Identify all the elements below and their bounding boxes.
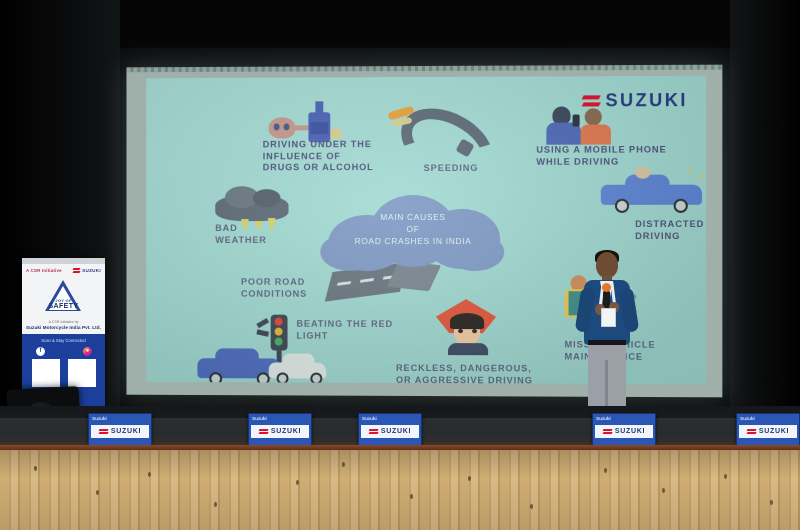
- nameplate-logo: SUZUKI: [361, 425, 419, 438]
- nameplate-label: SUZUKI: [615, 428, 645, 435]
- cause-label-bad-weather: BAD WEATHER: [215, 223, 294, 246]
- presenter: [576, 252, 638, 414]
- cause-label-drink-driving: DRIVING UNDER THE INFLUENCE OF DRUGS OR …: [263, 139, 392, 174]
- nameplate-tag: Suzuki: [92, 416, 107, 421]
- nameplate-logo: SUZUKI: [595, 425, 653, 438]
- standee-top-rail: [22, 258, 105, 264]
- standee-initiative-line: A CSR Initiative by: [22, 320, 105, 324]
- presenter-trousers: [588, 342, 626, 414]
- cause-label-red-light: BEATING THE RED LIGHT: [296, 319, 406, 342]
- standee-brand-wordmark: SUZUKI: [82, 268, 101, 273]
- suzuki-s-mark-icon: [73, 268, 80, 274]
- nameplate-logo: SUZUKI: [739, 425, 797, 438]
- table-nameplate: Suzuki SUZUKI: [248, 413, 312, 447]
- nameplate-label: SUZUKI: [271, 428, 301, 435]
- standee-suzuki-logo: SUZUKI: [73, 268, 101, 274]
- cause-label-speeding: SPEEDING: [406, 163, 496, 175]
- id-badge: [601, 308, 616, 327]
- table-nameplate: Suzuki SUZUKI: [592, 413, 656, 447]
- driver-with-phone-icon: [544, 98, 635, 144]
- instagram-qr-code: [68, 359, 96, 387]
- cloud-line-2: OF: [320, 223, 506, 235]
- nameplate-logo: SUZUKI: [91, 425, 149, 438]
- facebook-qr-code: [32, 359, 60, 387]
- standee-social-icons: f ●: [36, 347, 92, 356]
- standee-csr-tagline: A CSR Initiative: [26, 268, 62, 273]
- stage-front-panelling: [0, 450, 800, 530]
- suzuki-s-mark-icon: [259, 428, 268, 436]
- nameplate-logo: SUZUKI: [251, 425, 309, 438]
- crashed-cars-icon: [197, 348, 328, 384]
- standee-scan-line: Scan & Stay Connected: [22, 338, 105, 343]
- nameplate-label: SUZUKI: [759, 428, 789, 435]
- speed-swoosh-icon: [388, 105, 484, 165]
- nameplate-tag: Suzuki: [740, 416, 755, 421]
- suzuki-s-mark-icon: [99, 428, 108, 436]
- table-nameplate: Suzuki SUZUKI: [358, 413, 422, 447]
- storm-cloud-lightning-icon: [215, 185, 300, 225]
- angry-driver-icon: [428, 299, 506, 353]
- table-nameplate: Suzuki SUZUKI: [88, 413, 152, 447]
- auditorium-scene: SUZUKI DRIVING UNDER THE INFLUENCE OF DR…: [0, 0, 800, 530]
- facebook-icon: f: [36, 347, 45, 356]
- cloud-text: MAIN CAUSES OF ROAD CRASHES IN INDIA: [320, 211, 506, 247]
- cause-label-poor-road: POOR ROAD CONDITIONS: [241, 277, 350, 300]
- suzuki-s-mark-icon: [747, 428, 756, 436]
- table-nameplate: Suzuki SUZUKI: [736, 413, 800, 447]
- instagram-icon: ●: [83, 347, 92, 356]
- standee-qr-codes: [32, 359, 96, 387]
- central-cloud: MAIN CAUSES OF ROAD CRASHES IN INDIA: [320, 189, 506, 269]
- standee-safety-text: SAFETY: [22, 303, 105, 310]
- nameplate-label: SUZUKI: [381, 428, 411, 435]
- cause-label-mobile-phone: USING A MOBILE PHONE WHILE DRIVING: [536, 144, 690, 167]
- cause-label-distracted-driving: DISTRACTED DRIVING: [635, 219, 706, 242]
- nameplate-label: SUZUKI: [111, 428, 141, 435]
- suzuki-s-mark-icon: [603, 428, 612, 436]
- nameplate-tag: Suzuki: [362, 416, 377, 421]
- standee-header: A CSR Initiative SUZUKI: [26, 266, 101, 275]
- standee-company-name: Suzuki Motorcycle India Pvt. Ltd.: [22, 325, 105, 330]
- suzuki-s-mark-icon: [369, 428, 378, 436]
- nameplate-tag: Suzuki: [252, 416, 267, 421]
- ceiling-dark-band: [0, 0, 800, 48]
- right-wall-shadow: [730, 0, 800, 450]
- cloud-line-1: MAIN CAUSES: [320, 211, 506, 223]
- cloud-line-3: ROAD CRASHES IN INDIA: [320, 235, 506, 247]
- nameplate-tag: Suzuki: [596, 416, 611, 421]
- cause-label-reckless-driving: RECKLESS, DANGEROUS, OR AGGRESSIVE DRIVI…: [396, 363, 566, 384]
- car-with-music-notes-icon: ♪ ♫: [597, 169, 706, 215]
- presenter-belt: [588, 340, 626, 345]
